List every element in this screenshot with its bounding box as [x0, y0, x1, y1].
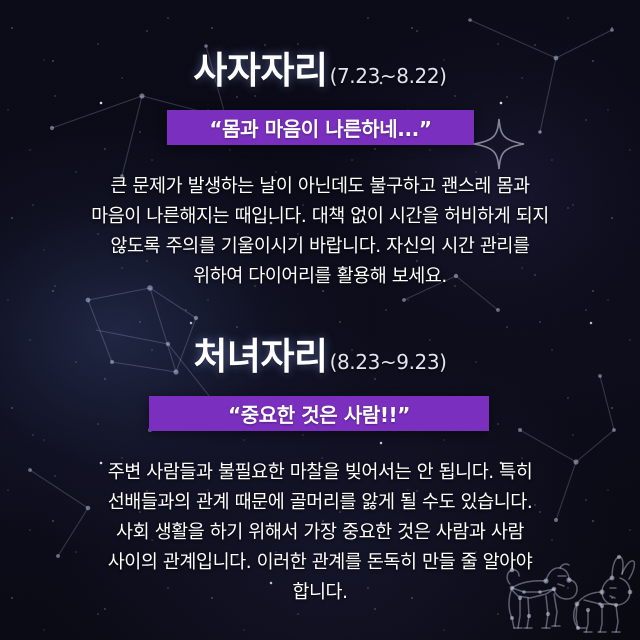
body-line: 마음이 나른해지는 때입니다. 대책 없이 시간을 허비하게 되지	[0, 202, 640, 232]
body-line: 큰 문제가 발생하는 날이 아닌데도 불구하고 괜스레 몸과	[0, 172, 640, 202]
zodiac-section-leo: 사자자리 (7.23~8.22)	[0, 52, 640, 89]
body-line: 선배들과의 관계 때문에 골머리를 앓게 될 수도 있습니다.	[0, 488, 640, 518]
zodiac-section-virgo: 처녀자리 (8.23~9.23)	[0, 338, 640, 375]
quote-banner: “몸과 마음이 나른하네...”	[167, 110, 474, 145]
body-line: 주변 사람들과 불필요한 마찰을 빚어서는 안 됩니다. 특히	[0, 458, 640, 488]
body-line: 사이의 관계입니다. 이러한 관계를 돈독히 만들 줄 알아야	[0, 548, 640, 578]
sign-dates: (7.23~8.22)	[330, 66, 447, 86]
quote-text: “몸과 마음이 나른하네...”	[209, 113, 431, 142]
body-line: 사회 생활을 하기 위해서 가장 중요한 것은 사람과 사람	[0, 518, 640, 548]
sign-dates: (8.23~9.23)	[330, 352, 447, 372]
four-point-sparkle-icon	[470, 115, 528, 173]
sign-name: 처녀자리	[193, 338, 327, 375]
quote-banner: “중요한 것은 사람!!”	[149, 396, 489, 431]
quote-text: “중요한 것은 사람!!”	[228, 399, 410, 428]
body-line: 않도록 주의를 기울이시기 바랍니다. 자신의 시간 관리를	[0, 232, 640, 262]
body-line: 위하여 다이어리를 활용해 보세요.	[0, 262, 640, 292]
sign-heading: 사자자리 (7.23~8.22)	[0, 52, 640, 89]
horoscope-card: 사자자리 (7.23~8.22) “몸과 마음이 나른하네...” 큰 문제가 …	[0, 0, 640, 640]
body-line: 합니다.	[0, 578, 640, 608]
sign-name: 사자자리	[193, 52, 327, 89]
horoscope-body-text: 주변 사람들과 불필요한 마찰을 빚어서는 안 됩니다. 특히 선배들과의 관계…	[0, 458, 640, 608]
horoscope-body-text: 큰 문제가 발생하는 날이 아닌데도 불구하고 괜스레 몸과 마음이 나른해지는…	[0, 172, 640, 292]
sign-heading: 처녀자리 (8.23~9.23)	[0, 338, 640, 375]
